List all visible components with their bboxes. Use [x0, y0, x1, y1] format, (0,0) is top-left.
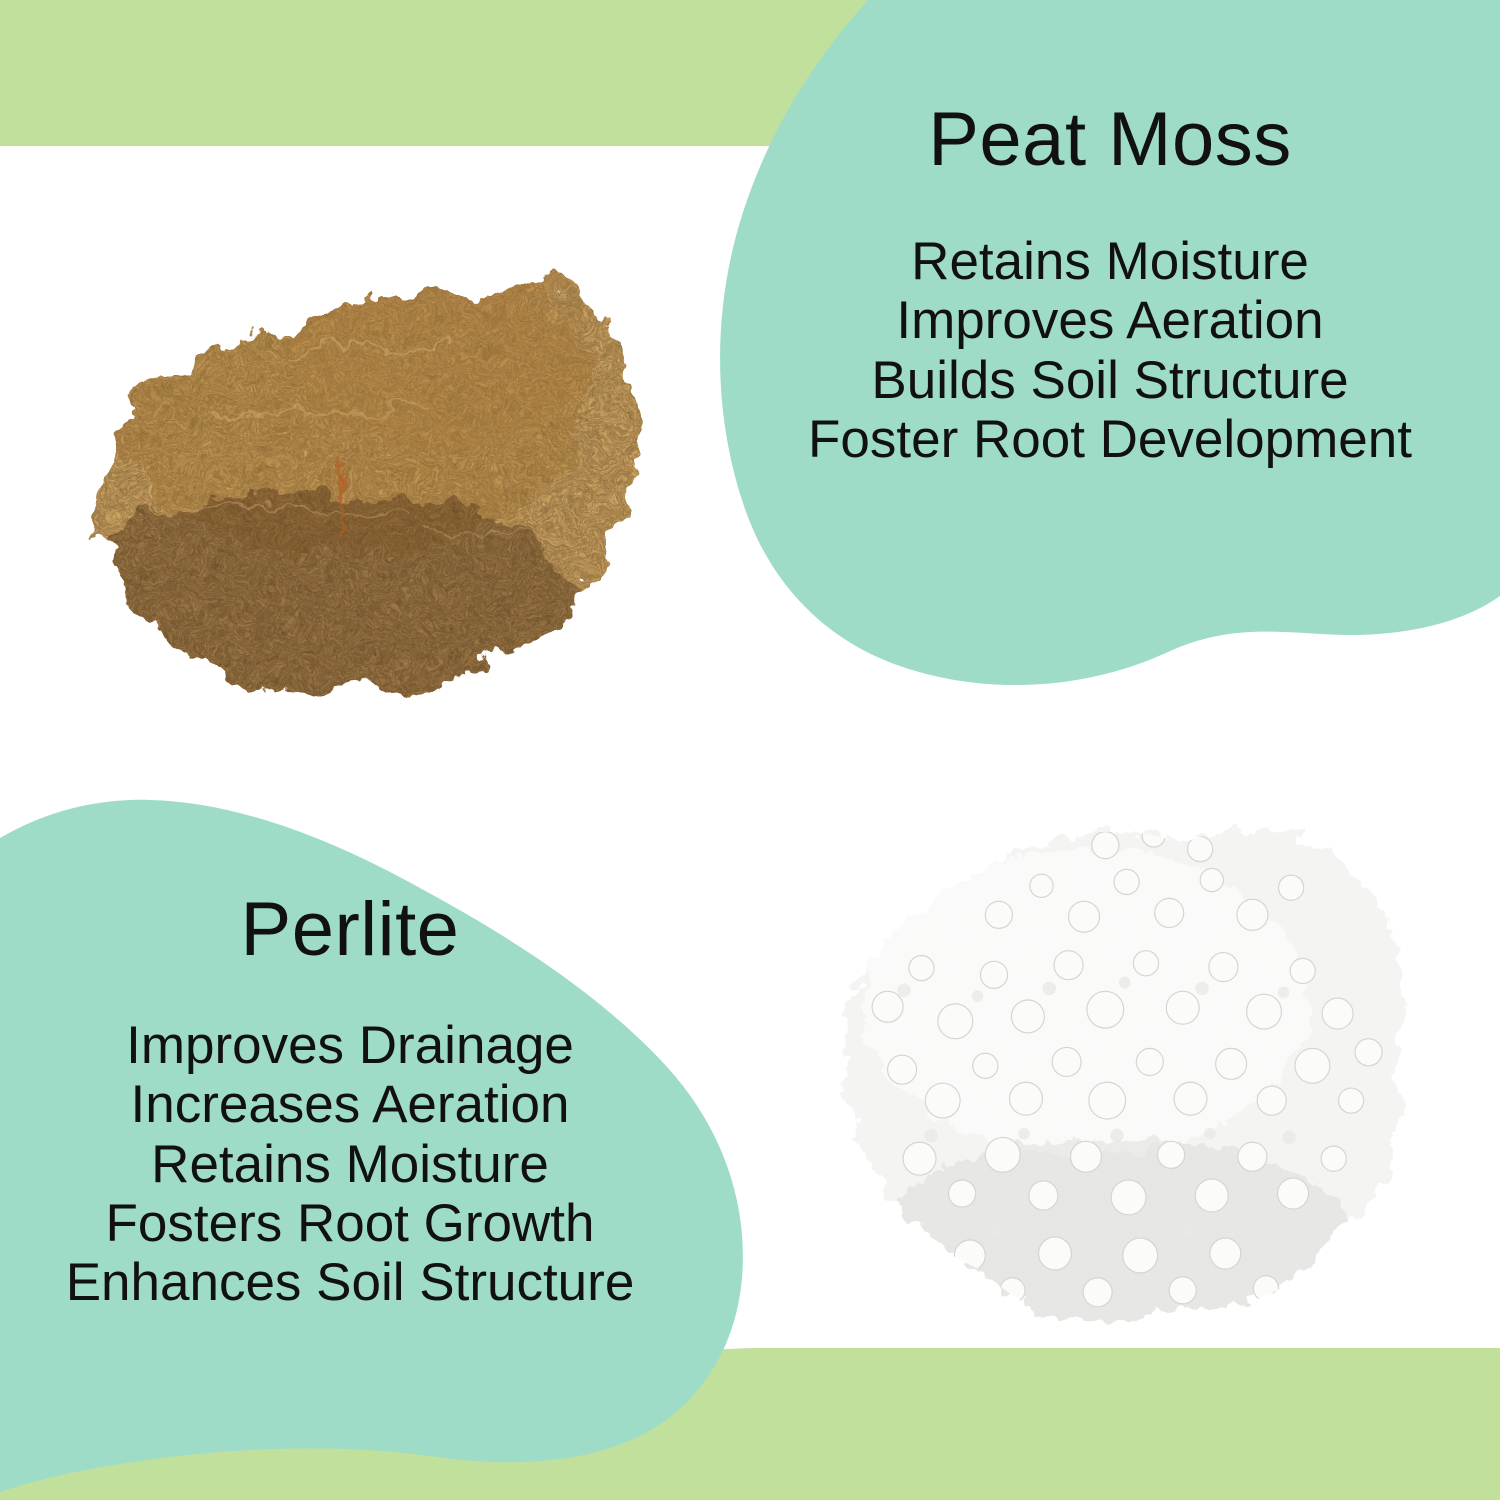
perlite-benefit-item: Increases Aeration — [0, 1075, 700, 1134]
peat-moss-benefit-list: Retains Moisture Improves Aeration Build… — [720, 232, 1500, 469]
perlite-benefit-item: Retains Moisture — [0, 1135, 700, 1194]
perlite-benefit-item: Enhances Soil Structure — [0, 1253, 700, 1312]
peat-moss-benefit-item: Foster Root Development — [720, 410, 1500, 469]
perlite-title: Perlite — [0, 890, 700, 970]
peat-moss-pile-photo — [0, 148, 740, 718]
peat-moss-panel: Peat Moss Retains Moisture Improves Aera… — [720, 100, 1500, 469]
perlite-benefit-item: Improves Drainage — [0, 1016, 700, 1075]
peat-moss-benefit-item: Retains Moisture — [720, 232, 1500, 291]
peat-moss-benefit-item: Builds Soil Structure — [720, 351, 1500, 410]
perlite-benefit-item: Fosters Root Growth — [0, 1194, 700, 1253]
peat-moss-title: Peat Moss — [720, 100, 1500, 180]
perlite-granules-photo — [795, 760, 1435, 1360]
infographic-canvas: Peat Moss Retains Moisture Improves Aera… — [0, 0, 1500, 1500]
perlite-benefit-list: Improves Drainage Increases Aeration Ret… — [0, 1016, 700, 1313]
perlite-panel: Perlite Improves Drainage Increases Aera… — [0, 890, 700, 1313]
peat-moss-benefit-item: Improves Aeration — [720, 291, 1500, 350]
